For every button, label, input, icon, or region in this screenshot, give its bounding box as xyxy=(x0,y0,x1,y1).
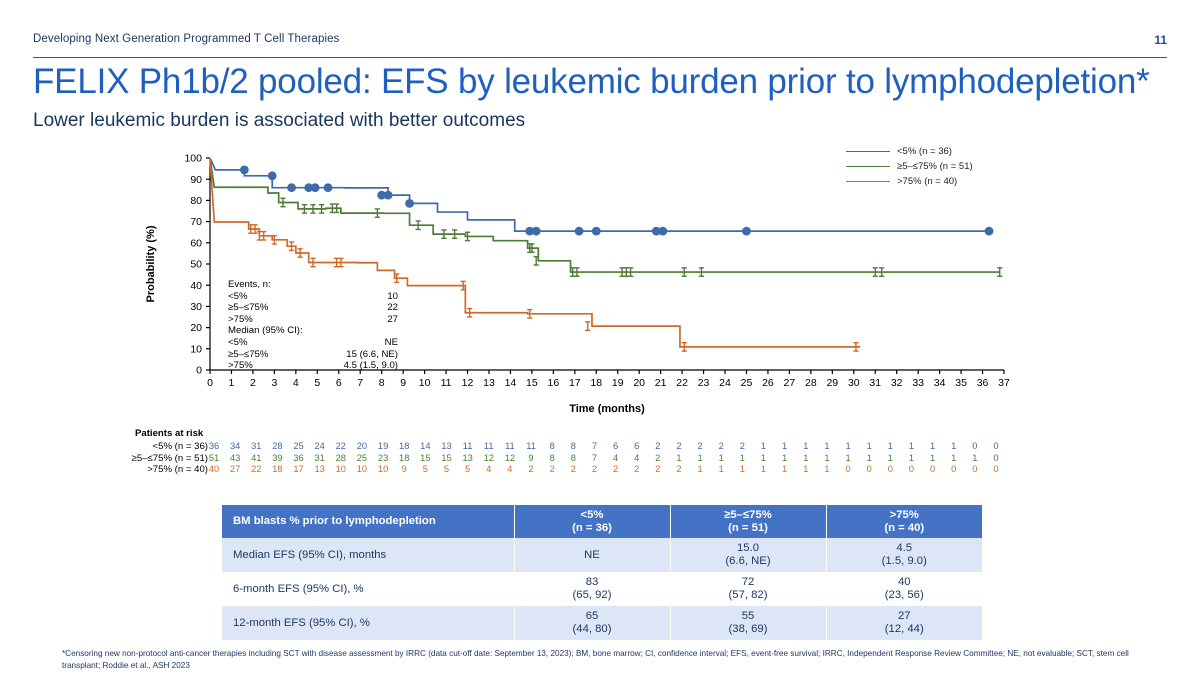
svg-text:Probability (%): Probability (%) xyxy=(145,225,157,302)
summary-cell-value: 72 xyxy=(671,576,826,589)
risk-value: 18 xyxy=(399,441,409,451)
risk-value: 5 xyxy=(423,464,428,474)
risk-value: 22 xyxy=(336,441,346,451)
risk-value: 1 xyxy=(803,453,808,463)
risk-value: 0 xyxy=(867,464,872,474)
risk-value: 22 xyxy=(251,464,261,474)
summary-cell-r0-c2: 4.5(1.5, 9.0) xyxy=(826,538,982,572)
risk-value: 1 xyxy=(951,441,956,451)
risk-value: 36 xyxy=(209,441,219,451)
svg-text:8: 8 xyxy=(379,377,385,389)
risk-value: 18 xyxy=(399,453,409,463)
summary-table-header-row: BM blasts % prior to lymphodepletion <5%… xyxy=(222,505,982,538)
risk-value: 1 xyxy=(972,453,977,463)
risk-value: 12 xyxy=(484,453,494,463)
risk-value: 10 xyxy=(378,464,388,474)
summary-cell-r1-c2: 40(23, 56) xyxy=(826,572,982,606)
legend-swatch-1 xyxy=(846,166,890,167)
risk-value: 2 xyxy=(719,441,724,451)
summary-header-group-0-n: (n = 36) xyxy=(515,522,670,535)
summary-cell-value: 65 xyxy=(515,610,670,623)
risk-value: 1 xyxy=(782,441,787,451)
summary-cell-ci: (23, 56) xyxy=(827,589,983,602)
summary-header-group-1-n: (n = 51) xyxy=(671,522,826,535)
summary-cell-r2-c2: 27(12, 44) xyxy=(826,606,982,640)
svg-text:21: 21 xyxy=(655,377,667,389)
risk-value: 0 xyxy=(909,464,914,474)
risk-value: 4 xyxy=(486,464,491,474)
table-row: 6-month EFS (95% CI), %83(65, 92)72(57, … xyxy=(222,572,982,606)
summary-cell-ci: (12, 44) xyxy=(827,623,983,636)
risk-value: 1 xyxy=(761,464,766,474)
svg-text:26: 26 xyxy=(762,377,774,389)
summary-cell-r1-c0: 83(65, 92) xyxy=(514,572,670,606)
events-row-1: ≥5–≤75%22 xyxy=(228,302,398,314)
risk-value: 11 xyxy=(463,441,473,451)
risk-value: 10 xyxy=(357,464,367,474)
svg-text:31: 31 xyxy=(869,377,881,389)
risk-value: 19 xyxy=(378,441,388,451)
page-title: FELIX Ph1b/2 pooled: EFS by leukemic bur… xyxy=(33,62,1150,102)
risk-value: 2 xyxy=(655,441,660,451)
svg-text:60: 60 xyxy=(190,237,202,249)
svg-text:20: 20 xyxy=(190,322,202,334)
svg-text:23: 23 xyxy=(698,377,710,389)
risk-value: 17 xyxy=(293,464,303,474)
median-row-2-label: >75% xyxy=(228,360,253,372)
svg-text:30: 30 xyxy=(190,301,202,313)
risk-value: 0 xyxy=(888,464,893,474)
risk-value: 9 xyxy=(528,453,533,463)
svg-text:40: 40 xyxy=(190,280,202,292)
median-heading: Median (95% CI): xyxy=(228,325,398,337)
svg-text:34: 34 xyxy=(934,377,946,389)
risk-value: 1 xyxy=(698,464,703,474)
risk-value: 0 xyxy=(930,464,935,474)
risk-value: 0 xyxy=(951,464,956,474)
legend-swatch-2 xyxy=(846,181,890,182)
risk-value: 1 xyxy=(719,453,724,463)
risk-value: 51 xyxy=(209,453,219,463)
summary-cell-r1-c1: 72(57, 82) xyxy=(670,572,826,606)
summary-cell-ci: (44, 80) xyxy=(515,623,670,636)
summary-row-2-label: 12-month EFS (95% CI), % xyxy=(222,606,514,640)
svg-text:10: 10 xyxy=(190,343,202,355)
risk-value: 0 xyxy=(972,441,977,451)
risk-value: 40 xyxy=(209,464,219,474)
risk-value: 1 xyxy=(888,441,893,451)
events-heading: Events, n: xyxy=(228,279,398,291)
risk-value: 2 xyxy=(528,464,533,474)
risk-value: 1 xyxy=(824,441,829,451)
risk-value: 2 xyxy=(698,441,703,451)
risk-value: 13 xyxy=(315,464,325,474)
svg-text:5: 5 xyxy=(314,377,320,389)
legend-label-1: ≥5–≤75% (n = 51) xyxy=(897,161,973,172)
summary-cell-ci: (65, 92) xyxy=(515,589,670,602)
risk-value: 1 xyxy=(782,453,787,463)
risk-value: 2 xyxy=(613,464,618,474)
summary-header-row-label: BM blasts % prior to lymphodepletion xyxy=(222,505,514,538)
summary-header-group-0: <5% (n = 36) xyxy=(514,505,670,538)
svg-text:90: 90 xyxy=(190,174,202,186)
chart-legend: <5% (n = 36)≥5–≤75% (n = 51)>75% (n = 40… xyxy=(846,144,1036,189)
risk-value: 1 xyxy=(930,453,935,463)
risk-value: 5 xyxy=(444,464,449,474)
risk-row-1: ≥5–≤75% (n = 51)514341393631282523181515… xyxy=(128,453,1008,465)
risk-value: 1 xyxy=(676,453,681,463)
summary-cell-value: 40 xyxy=(827,576,983,589)
summary-cell-r0-c0: NE xyxy=(514,538,670,572)
summary-cell-ci: (6.6, NE) xyxy=(671,555,826,568)
risk-value: 20 xyxy=(357,441,367,451)
risk-value: 1 xyxy=(782,464,787,474)
risk-value: 34 xyxy=(230,441,240,451)
svg-text:2: 2 xyxy=(250,377,256,389)
svg-text:11: 11 xyxy=(441,377,452,389)
summary-header-group-1: ≥5–≤75% (n = 51) xyxy=(670,505,826,538)
footnote: *Censoring new non-protocol anti-cancer … xyxy=(62,648,1142,671)
svg-text:25: 25 xyxy=(741,377,753,389)
table-row: Median EFS (95% CI), monthsNE15.0(6.6, N… xyxy=(222,538,982,572)
risk-value: 1 xyxy=(909,453,914,463)
risk-row-0: <5% (n = 36)3634312825242220191814131111… xyxy=(128,441,1008,453)
risk-value: 1 xyxy=(719,464,724,474)
summary-header-group-2-n: (n = 40) xyxy=(827,522,983,535)
svg-text:24: 24 xyxy=(719,377,731,389)
median-row-1-value: 15 (6.6, NE) xyxy=(346,349,398,361)
risk-value: 8 xyxy=(550,453,555,463)
risk-value: 25 xyxy=(357,453,367,463)
svg-text:18: 18 xyxy=(590,377,602,389)
summary-cell-r2-c0: 65(44, 80) xyxy=(514,606,670,640)
svg-text:1: 1 xyxy=(229,377,235,389)
summary-header-group-0-name: <5% xyxy=(515,509,670,522)
summary-header-group-2-name: >75% xyxy=(827,509,983,522)
svg-text:22: 22 xyxy=(676,377,688,389)
table-row: 12-month EFS (95% CI), %65(44, 80)55(38,… xyxy=(222,606,982,640)
median-row-0: <5%NE xyxy=(228,337,398,349)
risk-value: 2 xyxy=(676,464,681,474)
risk-value: 1 xyxy=(845,453,850,463)
risk-value: 25 xyxy=(293,441,303,451)
summary-cell-value: 27 xyxy=(827,610,983,623)
svg-text:9: 9 xyxy=(400,377,406,389)
risk-value: 31 xyxy=(251,441,261,451)
risk-value: 9 xyxy=(402,464,407,474)
risk-value: 4 xyxy=(507,464,512,474)
risk-row-0-label: <5% (n = 36) xyxy=(128,441,214,452)
svg-text:0: 0 xyxy=(207,377,213,389)
risk-value: 1 xyxy=(803,464,808,474)
risk-value: 8 xyxy=(571,453,576,463)
svg-text:36: 36 xyxy=(977,377,989,389)
risk-value: 13 xyxy=(462,453,472,463)
legend-label-0: <5% (n = 36) xyxy=(897,146,952,157)
summary-cell-ci: (38, 69) xyxy=(671,623,826,636)
svg-text:Time (months): Time (months) xyxy=(569,403,645,415)
patients-at-risk-rows: <5% (n = 36)3634312825242220191814131111… xyxy=(128,441,1008,476)
risk-value: 2 xyxy=(676,441,681,451)
risk-value: 2 xyxy=(655,453,660,463)
risk-value: 1 xyxy=(803,441,808,451)
risk-value: 1 xyxy=(824,464,829,474)
risk-value: 28 xyxy=(336,453,346,463)
svg-text:12: 12 xyxy=(462,377,474,389)
risk-value: 6 xyxy=(613,441,618,451)
slide-header: Developing Next Generation Programmed T … xyxy=(33,33,1167,58)
risk-value: 36 xyxy=(293,453,303,463)
events-row-0: <5%10 xyxy=(228,291,398,303)
events-heading-label: Events, n: xyxy=(228,279,271,291)
patients-at-risk-title: Patients at risk xyxy=(135,428,1008,439)
svg-text:14: 14 xyxy=(505,377,517,389)
median-row-0-value: NE xyxy=(385,337,398,349)
events-row-0-label: <5% xyxy=(228,291,247,303)
svg-text:4: 4 xyxy=(293,377,299,389)
svg-text:16: 16 xyxy=(548,377,560,389)
page-number: 11 xyxy=(1154,33,1167,47)
risk-value: 31 xyxy=(315,453,325,463)
summary-cell-ci: (57, 82) xyxy=(671,589,826,602)
legend-swatch-0 xyxy=(846,151,890,152)
summary-table-head: BM blasts % prior to lymphodepletion <5%… xyxy=(222,505,982,538)
risk-value: 18 xyxy=(272,464,282,474)
risk-value: 7 xyxy=(592,441,597,451)
risk-value: 11 xyxy=(484,441,494,451)
svg-text:15: 15 xyxy=(526,377,538,389)
median-row-1: ≥5–≤75%15 (6.6, NE) xyxy=(228,349,398,361)
risk-value: 2 xyxy=(571,464,576,474)
summary-header-group-1-name: ≥5–≤75% xyxy=(671,509,826,522)
risk-value: 6 xyxy=(634,441,639,451)
risk-row-1-label: ≥5–≤75% (n = 51) xyxy=(128,453,214,464)
summary-cell-value: 4.5 xyxy=(827,542,983,555)
risk-value: 1 xyxy=(909,441,914,451)
risk-value: 8 xyxy=(550,441,555,451)
risk-value: 1 xyxy=(951,453,956,463)
svg-text:6: 6 xyxy=(336,377,342,389)
risk-value: 28 xyxy=(272,441,282,451)
events-row-2: >75%27 xyxy=(228,314,398,326)
risk-value: 13 xyxy=(441,441,451,451)
events-row-1-value: 22 xyxy=(387,302,398,314)
risk-value: 2 xyxy=(740,441,745,451)
svg-text:100: 100 xyxy=(184,153,202,165)
svg-text:35: 35 xyxy=(955,377,967,389)
risk-value: 7 xyxy=(592,453,597,463)
svg-text:33: 33 xyxy=(912,377,924,389)
risk-value: 23 xyxy=(378,453,388,463)
risk-value: 0 xyxy=(972,464,977,474)
risk-value: 0 xyxy=(845,464,850,474)
risk-value: 27 xyxy=(230,464,240,474)
svg-text:19: 19 xyxy=(612,377,624,389)
page-subtitle: Lower leukemic burden is associated with… xyxy=(33,110,525,132)
summary-table-body: Median EFS (95% CI), monthsNE15.0(6.6, N… xyxy=(222,538,982,640)
risk-value: 43 xyxy=(230,453,240,463)
summary-cell-r0-c1: 15.0(6.6, NE) xyxy=(670,538,826,572)
risk-value: 15 xyxy=(441,453,451,463)
svg-text:0: 0 xyxy=(196,365,202,377)
svg-text:29: 29 xyxy=(826,377,838,389)
summary-cell-value: 55 xyxy=(671,610,826,623)
risk-value: 11 xyxy=(505,441,515,451)
risk-row-2-label: >75% (n = 40) xyxy=(128,464,214,475)
risk-value: 14 xyxy=(420,441,430,451)
risk-value: 1 xyxy=(740,464,745,474)
patients-at-risk-block: Patients at risk <5% (n = 36)36343128252… xyxy=(128,428,1008,476)
median-row-1-label: ≥5–≤75% xyxy=(228,349,268,361)
summary-cell-ci: (1.5, 9.0) xyxy=(827,555,983,568)
svg-text:13: 13 xyxy=(483,377,495,389)
svg-text:80: 80 xyxy=(190,195,202,207)
svg-text:17: 17 xyxy=(569,377,581,389)
svg-text:10: 10 xyxy=(419,377,431,389)
median-row-2-value: 4.5 (1.5, 9.0) xyxy=(344,360,398,372)
risk-value: 11 xyxy=(526,441,536,451)
risk-value: 1 xyxy=(888,453,893,463)
risk-value: 4 xyxy=(613,453,618,463)
risk-value: 2 xyxy=(592,464,597,474)
risk-value: 1 xyxy=(867,453,872,463)
risk-value: 1 xyxy=(930,441,935,451)
summary-row-1-label: 6-month EFS (95% CI), % xyxy=(222,572,514,606)
svg-text:27: 27 xyxy=(784,377,796,389)
risk-value: 4 xyxy=(634,453,639,463)
svg-text:7: 7 xyxy=(357,377,363,389)
svg-text:37: 37 xyxy=(998,377,1010,389)
svg-text:20: 20 xyxy=(633,377,645,389)
events-row-1-label: ≥5–≤75% xyxy=(228,302,268,314)
summary-cell-value: NE xyxy=(515,549,670,562)
svg-text:28: 28 xyxy=(805,377,817,389)
risk-value: 1 xyxy=(698,453,703,463)
summary-cell-value: 83 xyxy=(515,576,670,589)
legend-item-1: ≥5–≤75% (n = 51) xyxy=(846,159,1036,173)
summary-table: BM blasts % prior to lymphodepletion <5%… xyxy=(222,505,982,640)
svg-text:70: 70 xyxy=(190,216,202,228)
summary-row-0-label: Median EFS (95% CI), months xyxy=(222,538,514,572)
median-row-2: >75%4.5 (1.5, 9.0) xyxy=(228,360,398,372)
risk-value: 24 xyxy=(315,441,325,451)
summary-cell-r2-c1: 55(38, 69) xyxy=(670,606,826,640)
risk-value: 0 xyxy=(993,441,998,451)
risk-row-2-values: 4027221817131010109555442222222211111110… xyxy=(214,464,996,476)
risk-value: 1 xyxy=(761,441,766,451)
svg-text:50: 50 xyxy=(190,259,202,271)
risk-value: 8 xyxy=(571,441,576,451)
risk-value: 15 xyxy=(420,453,430,463)
median-row-0-label: <5% xyxy=(228,337,247,349)
median-heading-label: Median (95% CI): xyxy=(228,325,303,337)
events-row-0-value: 10 xyxy=(387,291,398,303)
risk-row-2: >75% (n = 40)402722181713101010955544222… xyxy=(128,464,1008,476)
risk-value: 1 xyxy=(867,441,872,451)
legend-item-0: <5% (n = 36) xyxy=(846,144,1036,158)
legend-label-2: >75% (n = 40) xyxy=(897,176,957,187)
risk-value: 10 xyxy=(336,464,346,474)
risk-value: 1 xyxy=(845,441,850,451)
risk-value: 2 xyxy=(634,464,639,474)
risk-value: 2 xyxy=(550,464,555,474)
risk-value: 2 xyxy=(655,464,660,474)
risk-row-0-values: 3634312825242220191814131111111188766222… xyxy=(214,441,996,453)
risk-value: 0 xyxy=(993,464,998,474)
legend-item-2: >75% (n = 40) xyxy=(846,174,1036,188)
risk-value: 0 xyxy=(993,453,998,463)
risk-value: 1 xyxy=(824,453,829,463)
svg-text:3: 3 xyxy=(271,377,277,389)
svg-text:32: 32 xyxy=(891,377,903,389)
risk-value: 1 xyxy=(740,453,745,463)
events-row-2-label: >75% xyxy=(228,314,253,326)
events-annotation: Events, n:<5%10≥5–≤75%22>75%27Median (95… xyxy=(228,279,398,372)
svg-text:30: 30 xyxy=(848,377,860,389)
risk-value: 5 xyxy=(465,464,470,474)
risk-value: 1 xyxy=(761,453,766,463)
summary-header-group-2: >75% (n = 40) xyxy=(826,505,982,538)
events-row-2-value: 27 xyxy=(387,314,398,326)
risk-row-1-values: 5143413936312825231815151312129887442111… xyxy=(214,453,996,465)
risk-value: 39 xyxy=(272,453,282,463)
risk-value: 41 xyxy=(251,453,261,463)
header-title: Developing Next Generation Programmed T … xyxy=(33,33,339,45)
risk-value: 12 xyxy=(505,453,515,463)
summary-cell-value: 15.0 xyxy=(671,542,826,555)
